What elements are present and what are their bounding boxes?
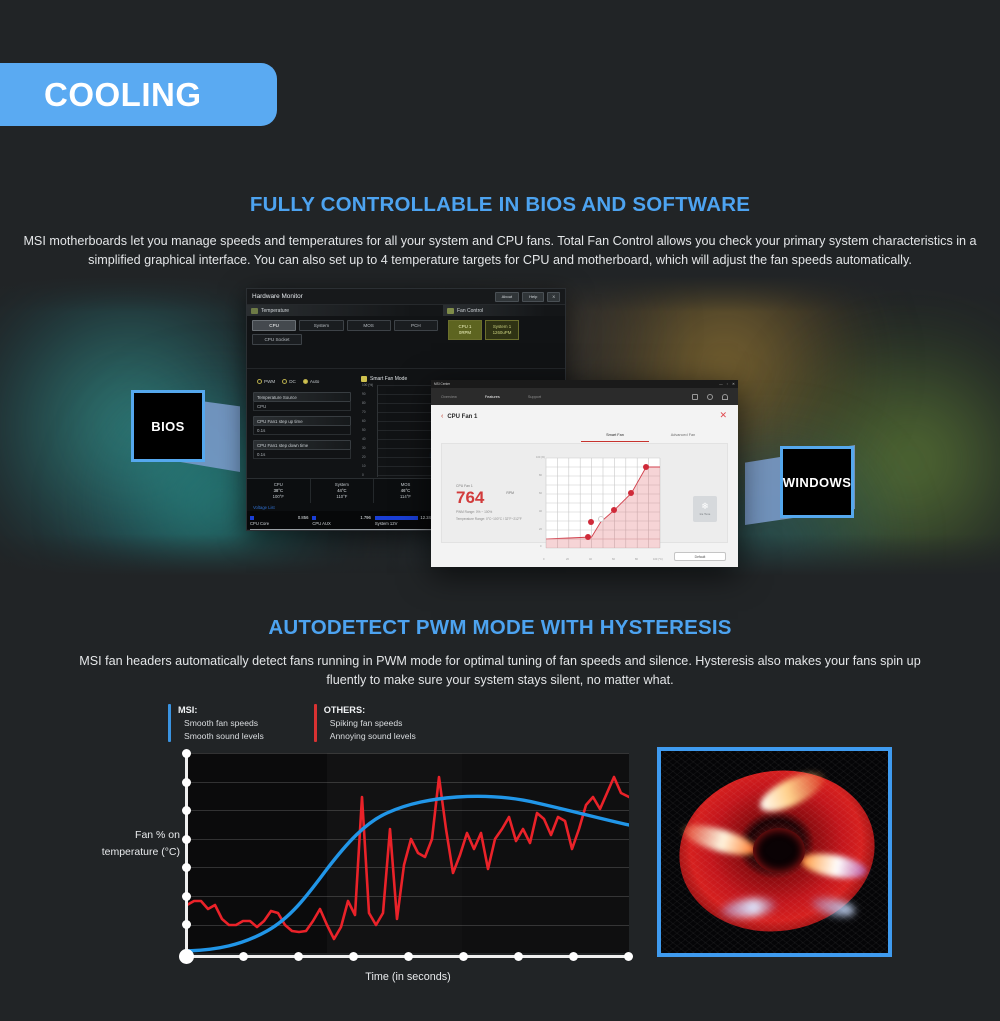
section-heading-pwm-hysteresis: AUTODETECT PWM MODE WITH HYSTERESIS bbox=[0, 616, 1000, 640]
bios-about-button[interactable]: About bbox=[495, 292, 519, 302]
bios-volt-cell-system-12v: 12.240 System 12V bbox=[375, 515, 437, 526]
bios-fan-chip-system1-value: 1260uPM bbox=[486, 330, 518, 336]
legend-msi-title: MSI: bbox=[178, 704, 264, 717]
bios-ylabel-2: 80 bbox=[362, 401, 366, 405]
bios-help-button[interactable]: Help bbox=[522, 292, 544, 302]
chart-y-tick bbox=[182, 806, 191, 815]
msi-dialog-close-icon[interactable]: ✕ bbox=[719, 411, 727, 420]
thermometer-icon bbox=[251, 308, 258, 314]
chart-y-tick bbox=[182, 749, 191, 758]
bios-badge-box: BIOS bbox=[131, 390, 205, 462]
bios-field-temperature-source-key: Temperature Source bbox=[253, 392, 351, 402]
chart-x-tick bbox=[514, 952, 523, 961]
chart-legend: MSI: Smooth fan speeds Smooth sound leve… bbox=[168, 704, 416, 742]
bios-smart-fan-mode-label: Smart Fan Mode bbox=[370, 376, 407, 382]
bios-titlebar-buttons[interactable]: About Help X bbox=[495, 292, 560, 302]
windows-badge-label: WINDOWS bbox=[783, 475, 852, 490]
msi-default-button[interactable]: Default bbox=[674, 552, 726, 561]
legend-color-swatch-msi bbox=[168, 704, 171, 742]
msi-window-controls[interactable]: — ▫ ✕ bbox=[719, 382, 735, 386]
bios-ylabel-0: 100 (%) bbox=[362, 383, 373, 387]
bios-fan-control-label: Fan Control bbox=[457, 308, 483, 314]
msi-nav-support[interactable]: Support bbox=[528, 395, 541, 399]
msi-rpm-value: 764 bbox=[456, 488, 484, 507]
chart-x-axis-label: Time (in seconds) bbox=[187, 971, 629, 983]
fan-icon bbox=[447, 308, 454, 314]
bios-mode-dc[interactable]: DC bbox=[282, 379, 296, 384]
bios-fan-chip-system1[interactable]: System 1 1260uPM bbox=[485, 320, 519, 340]
bios-field-step-down-time[interactable]: CPU Fan1 step down time 0.1s bbox=[253, 440, 351, 459]
bios-fan-chip-cpu1[interactable]: CPU 1 0RPM bbox=[448, 320, 482, 340]
msi-y-label-40: 40 bbox=[539, 510, 542, 513]
bios-temperature-section-header: Temperature bbox=[247, 305, 443, 316]
msi-y-label-100: 100 (%) bbox=[536, 456, 545, 459]
close-icon[interactable]: ✕ bbox=[732, 382, 735, 386]
bios-fan-settings-panel: PWM DC Auto Temperature Source CPU CPU F… bbox=[247, 369, 357, 489]
bios-ylabel-9: 10 bbox=[362, 464, 366, 468]
msi-x-label-60: 60 bbox=[612, 558, 615, 561]
bios-volt-name-system-12v: System 12V bbox=[375, 521, 437, 526]
user-icon[interactable] bbox=[722, 394, 728, 400]
msi-fan-curve-chart[interactable]: 0 20 40 60 80 100 (°C) 100 (%) 80 60 40 … bbox=[538, 456, 668, 560]
msi-curve-point-active[interactable] bbox=[598, 516, 604, 522]
bios-volt-name-cpu-aux: CPU AUX bbox=[312, 521, 374, 526]
snowflake-icon: ❄ bbox=[701, 502, 709, 511]
bios-volt-name-cpu-core: CPU Core bbox=[250, 521, 312, 526]
msi-back-button[interactable]: ‹ CPU Fan 1 bbox=[441, 413, 728, 420]
hysteresis-chart: Fan % on temperature (°C) Time (in secon… bbox=[80, 745, 655, 995]
msi-fan-card: CPU Fan 1 764RPM PWM Range: 0% ~ 100% Te… bbox=[441, 443, 728, 543]
msi-curve-svg bbox=[538, 456, 668, 560]
chart-x-tick bbox=[624, 952, 633, 961]
bios-fan-control-section-header: Fan Control bbox=[443, 305, 565, 316]
maximize-icon[interactable]: ▫ bbox=[727, 382, 728, 386]
bios-temp-subtab-cpu-socket[interactable]: CPU Socket bbox=[252, 334, 302, 345]
chart-series-svg bbox=[187, 753, 629, 953]
msi-tab-advanced-fan[interactable]: Advanced Fan bbox=[649, 429, 717, 442]
bios-badge-label: BIOS bbox=[151, 419, 184, 434]
fan-hub bbox=[753, 828, 805, 873]
chart-y-tick bbox=[182, 892, 191, 901]
section-heading-bios-software: FULLY CONTROLLABLE IN BIOS AND SOFTWARE bbox=[0, 193, 1000, 217]
msi-x-label-20: 20 bbox=[566, 558, 569, 561]
bios-field-step-down-time-key: CPU Fan1 step down time bbox=[253, 440, 351, 450]
radio-icon bbox=[257, 379, 262, 384]
bios-temp-tab-pch[interactable]: PCH bbox=[394, 320, 438, 331]
msi-window-title: MSI Center bbox=[434, 382, 450, 386]
bios-temp-cell-mos: MOS 46°C 114°F bbox=[374, 479, 438, 503]
msi-body: ‹ CPU Fan 1 ✕ Smart Fan Advanced Fan CPU… bbox=[431, 405, 738, 567]
bios-mode-pwm[interactable]: PWM bbox=[257, 379, 275, 384]
msi-back-label: CPU Fan 1 bbox=[447, 414, 477, 420]
series-others-line bbox=[187, 777, 629, 939]
chart-y-axis-label-line2: temperature (°C) bbox=[80, 844, 180, 861]
bios-mode-auto[interactable]: Auto bbox=[303, 379, 319, 384]
msi-y-label-20: 20 bbox=[539, 528, 542, 531]
bios-temp-cell-system: System 44°C 110°F bbox=[311, 479, 375, 503]
monitor-icon[interactable] bbox=[692, 394, 698, 400]
msi-nav-icons[interactable] bbox=[692, 394, 728, 400]
chart-x-tick bbox=[459, 952, 468, 961]
bios-ylabel-4: 60 bbox=[362, 419, 366, 423]
chart-y-axis-label: Fan % on temperature (°C) bbox=[80, 827, 180, 861]
bios-ylabel-3: 70 bbox=[362, 410, 366, 414]
section-paragraph-bios-software: MSI motherboards let you manage speeds a… bbox=[0, 232, 1000, 270]
msi-fan-info: CPU Fan 1 764RPM PWM Range: 0% ~ 100% Te… bbox=[456, 484, 522, 521]
bios-mode-dc-label: DC bbox=[289, 379, 296, 384]
chart-x-tick bbox=[404, 952, 413, 961]
msi-y-label-0: 0 bbox=[540, 545, 541, 548]
legend-color-swatch-others bbox=[314, 704, 317, 742]
bios-mode-auto-label: Auto bbox=[310, 379, 319, 384]
bios-volt-cell-cpu-core: 0.856 CPU Core bbox=[250, 515, 312, 526]
bios-temp-tab-cpu[interactable]: CPU bbox=[252, 320, 296, 331]
section-paragraph-pwm-hysteresis: MSI fan headers automatically detect fan… bbox=[0, 652, 1000, 690]
bios-mode-pwm-label: PWM bbox=[264, 379, 275, 384]
chart-plot-area bbox=[187, 753, 629, 953]
msi-nav-features[interactable]: Features bbox=[485, 395, 500, 399]
msi-temp-range: Temperature Range: 0°C~100°C / 32°F~212°… bbox=[456, 517, 522, 521]
msi-curve-point-4[interactable] bbox=[643, 464, 649, 470]
msi-center-window: MSI Center — ▫ ✕ Overview Features Suppo… bbox=[431, 380, 738, 567]
chevron-left-icon: ‹ bbox=[441, 413, 443, 420]
msi-tab-smart-fan[interactable]: Smart Fan bbox=[581, 429, 649, 442]
gear-icon[interactable] bbox=[707, 394, 713, 400]
legend-others-title: OTHERS: bbox=[324, 704, 416, 717]
bios-field-temperature-source[interactable]: Temperature Source CPU bbox=[253, 392, 351, 411]
chart-x-tick bbox=[239, 952, 248, 961]
bios-temp-tab-system[interactable]: System bbox=[299, 320, 343, 331]
msi-titlebar: MSI Center — ▫ ✕ bbox=[431, 380, 738, 388]
checkbox-icon bbox=[361, 376, 367, 382]
bios-ylabel-6: 40 bbox=[362, 437, 366, 441]
bios-fan-chip-cpu1-value: 0RPM bbox=[449, 330, 481, 336]
msi-y-label-60: 60 bbox=[539, 492, 542, 495]
bios-window-title: Hardware Monitor bbox=[252, 293, 303, 300]
bios-close-button[interactable]: X bbox=[547, 292, 560, 302]
bios-ylabel-5: 50 bbox=[362, 428, 366, 432]
chart-x-tick bbox=[349, 952, 358, 961]
bios-ylabel-7: 30 bbox=[362, 446, 366, 450]
bios-volt-cell-cpu-aux: 1.796 CPU AUX bbox=[312, 515, 374, 526]
cooling-banner-label: COOLING bbox=[44, 76, 202, 114]
chart-x-tick bbox=[569, 952, 578, 961]
chart-origin-dot bbox=[179, 949, 194, 964]
bios-temp-cell-cpu: CPU 38°C 100°F bbox=[247, 479, 311, 503]
chart-y-tick bbox=[182, 863, 191, 872]
msi-x-label-40: 40 bbox=[589, 558, 592, 561]
bios-fan-chips[interactable]: CPU 1 0RPM System 1 1260uPM bbox=[443, 316, 565, 341]
cooling-banner: COOLING bbox=[0, 63, 277, 126]
msi-nav-overview[interactable]: Overview bbox=[441, 395, 457, 399]
legend-msi-line-1: Smooth fan speeds bbox=[178, 717, 264, 730]
msi-pwm-range: PWM Range: 0% ~ 100% bbox=[456, 510, 522, 514]
led-fan-photo bbox=[657, 747, 892, 957]
bios-field-step-up-time[interactable]: CPU Fan1 step up time 0.1s bbox=[253, 416, 351, 435]
msi-x-label-100: 100 (°C) bbox=[653, 558, 663, 561]
msi-curve-point-1[interactable] bbox=[588, 519, 594, 525]
msi-ice-tune-button[interactable]: ❄ Ice Tune bbox=[693, 496, 717, 522]
bios-temp-tab-mos[interactable]: MOS bbox=[347, 320, 391, 331]
msi-curve-point-2[interactable] bbox=[611, 507, 617, 513]
chart-y-tick bbox=[182, 835, 191, 844]
bios-ylabel-8: 20 bbox=[362, 455, 366, 459]
chart-y-tick bbox=[182, 920, 191, 929]
bios-ylabel-10: 0 bbox=[362, 473, 364, 477]
chart-y-axis-label-line1: Fan % on bbox=[80, 827, 180, 844]
chart-x-tick bbox=[294, 952, 303, 961]
bios-temp-cell-cpu-f: 100°F bbox=[247, 494, 310, 500]
bios-temp-cell-system-f: 110°F bbox=[311, 494, 374, 500]
bios-volt-value-cpu-aux: 1.796 bbox=[360, 515, 374, 520]
msi-x-label-80: 80 bbox=[635, 558, 638, 561]
msi-ice-tune-label: Ice Tune bbox=[700, 512, 711, 516]
legend-item-others: OTHERS: Spiking fan speeds Annoying soun… bbox=[314, 704, 416, 742]
legend-item-msi: MSI: Smooth fan speeds Smooth sound leve… bbox=[168, 704, 264, 742]
radio-icon-selected bbox=[303, 379, 308, 384]
bios-field-step-up-time-key: CPU Fan1 step up time bbox=[253, 416, 351, 426]
legend-others-line-2: Annoying sound levels bbox=[324, 730, 416, 743]
bios-field-step-up-time-value: 0.1s bbox=[253, 426, 351, 435]
bios-ylabel-1: 90 bbox=[362, 392, 366, 396]
chart-y-tick bbox=[182, 778, 191, 787]
bios-titlebar: Hardware Monitor About Help X bbox=[247, 289, 565, 305]
msi-curve-point-0[interactable] bbox=[585, 534, 591, 540]
legend-msi-line-2: Smooth sound levels bbox=[178, 730, 264, 743]
windows-badge-box: WINDOWS bbox=[780, 446, 854, 518]
bios-field-step-down-time-value: 0.1s bbox=[253, 450, 351, 459]
minimize-icon[interactable]: — bbox=[719, 382, 723, 386]
bios-upper-panel: Temperature CPU System MOS PCH CPU Socke… bbox=[247, 305, 565, 369]
bios-volt-value-cpu-core: 0.856 bbox=[298, 515, 312, 520]
bios-temp-tabs[interactable]: CPU System MOS PCH bbox=[247, 316, 443, 332]
bios-temperature-label: Temperature bbox=[261, 308, 289, 314]
bios-field-temperature-source-value: CPU bbox=[253, 402, 351, 411]
msi-rpm-unit: RPM bbox=[506, 491, 514, 495]
msi-y-label-80: 80 bbox=[539, 474, 542, 477]
bios-temp-cell-mos-f: 114°F bbox=[374, 494, 437, 500]
msi-navbar[interactable]: Overview Features Support bbox=[431, 388, 738, 405]
msi-fan-tabs[interactable]: Smart Fan Advanced Fan bbox=[581, 429, 717, 442]
radio-icon bbox=[282, 379, 287, 384]
msi-curve-point-3[interactable] bbox=[628, 490, 634, 496]
bios-mode-radio-group[interactable]: PWM DC Auto bbox=[257, 379, 351, 384]
msi-x-label-0: 0 bbox=[543, 558, 544, 561]
legend-others-line-1: Spiking fan speeds bbox=[324, 717, 416, 730]
